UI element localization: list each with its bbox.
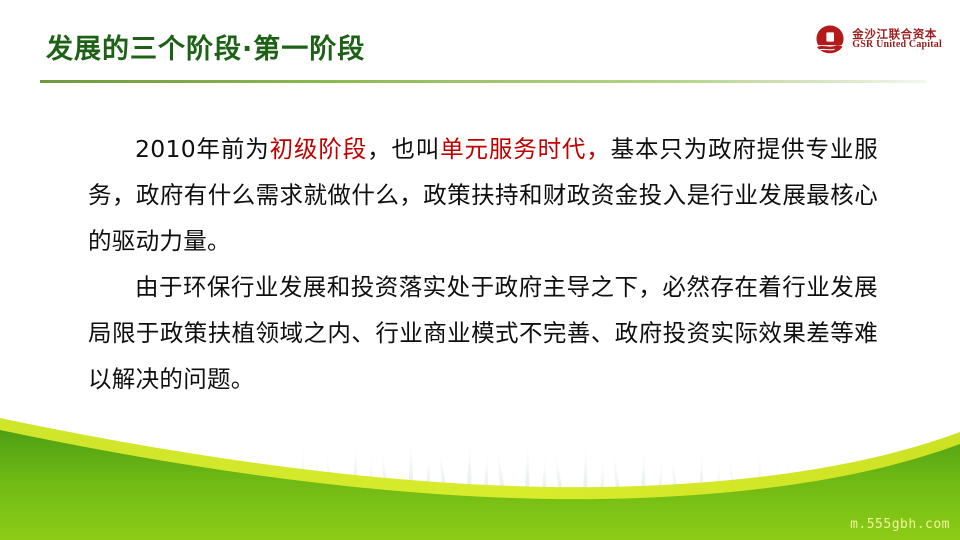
brand-logo: 金沙江联合资本 GSR United Capital	[815, 22, 942, 56]
page-title: 发展的三个阶段·第一阶段	[46, 34, 365, 66]
red-wave-emblem-icon	[815, 24, 845, 54]
body-text: 由于环保行业发展和投资落实处于政府主导之下，必然存在着行业发展局限于政策扶植领域…	[88, 273, 878, 393]
slide-canvas: 发展的三个阶段·第一阶段 金沙江联合资本 GSR United Capital …	[0, 0, 960, 540]
footer-decoration: m.555gbh.com	[0, 390, 960, 540]
logo-name-cn: 金沙江联合资本	[852, 28, 942, 40]
site-watermark: m.555gbh.com	[850, 517, 950, 532]
highlighted-text: 初级阶段	[270, 135, 367, 163]
body-text: ，也叫	[367, 135, 440, 163]
logo-text: 金沙江联合资本 GSR United Capital	[852, 28, 942, 51]
highlighted-text: 单元服务时代，	[440, 135, 611, 163]
logo-name-en: GSR United Capital	[852, 40, 942, 51]
title-divider	[40, 80, 926, 83]
body-text: 2010年前为	[135, 135, 270, 163]
paragraph-1: 2010年前为初级阶段，也叫单元服务时代，基本只为政府提供专业服务，政府有什么需…	[88, 126, 878, 264]
paragraph-2: 由于环保行业发展和投资落实处于政府主导之下，必然存在着行业发展局限于政策扶植领域…	[88, 264, 878, 402]
slide-body: 2010年前为初级阶段，也叫单元服务时代，基本只为政府提供专业服务，政府有什么需…	[88, 126, 878, 402]
